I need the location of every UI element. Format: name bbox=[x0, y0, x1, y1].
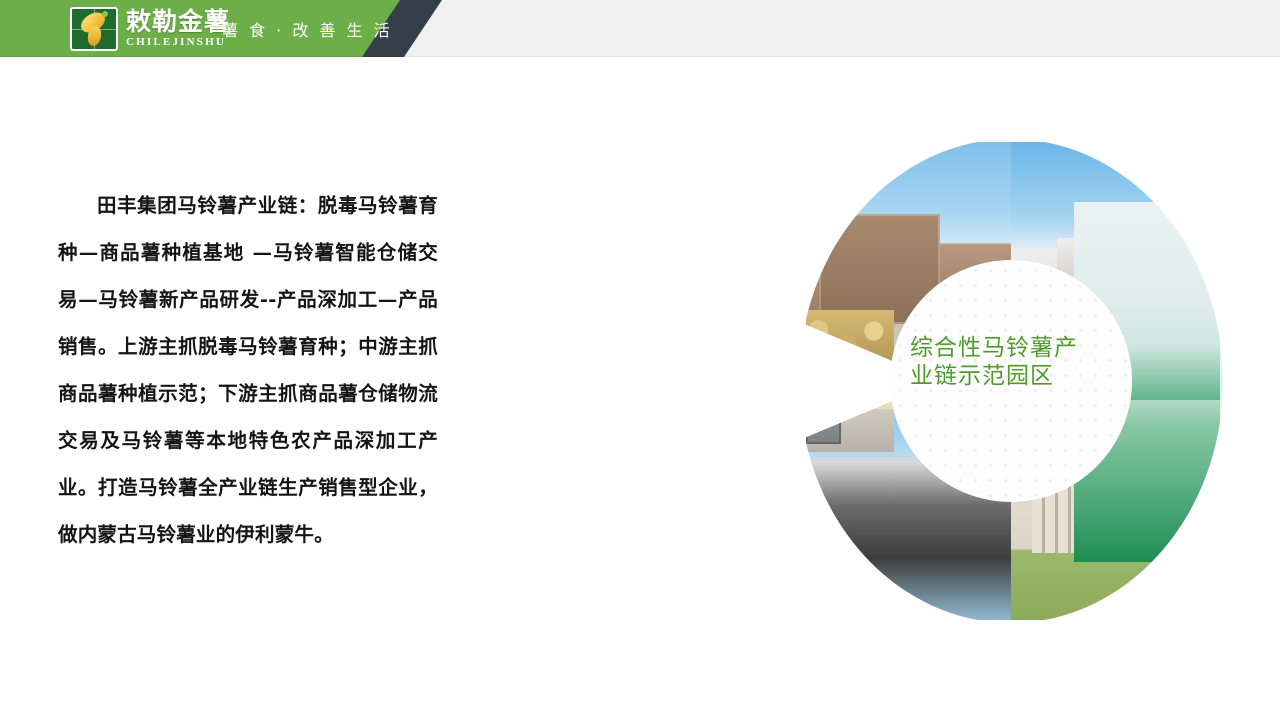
photo-cleanroom-workshop bbox=[1074, 202, 1220, 562]
ring-divider-horizontal-right bbox=[802, 624, 1011, 628]
collage-label-en: AIFENG FOOD bbox=[506, 395, 648, 416]
brand-name-en: CHILEJINSHU bbox=[126, 37, 230, 48]
photo-equipment bbox=[802, 380, 894, 452]
ring-segment-equipment bbox=[802, 380, 894, 452]
ring-segment-cleanroom-workshop bbox=[1074, 202, 1220, 562]
watermark-en: Industrial Distribution bbox=[225, 560, 453, 590]
ring-collage: 综合性马铃薯产业链示范园区 bbox=[802, 142, 1220, 620]
ring-center-label: 综合性马铃薯产业链示范园区 bbox=[910, 334, 1090, 390]
potato-logo-icon bbox=[70, 7, 118, 51]
ring-divider-horizontal-left bbox=[802, 620, 1011, 624]
header-tagline: 薯 食 · 改 善 生 活 bbox=[222, 17, 393, 41]
brand-name-cn: 敕勒金薯 bbox=[126, 9, 230, 34]
brand-lockup: 敕勒金薯 CHILEJINSHU bbox=[70, 6, 230, 51]
collage-label-cn: 马铃薯智能仓储库 bbox=[477, 348, 637, 374]
ring-segment-potato-harvest bbox=[802, 310, 894, 380]
body-paragraph: 田丰集团马铃薯产业链：脱毒马铃薯育种—商品薯种植基地 —马铃薯智能仓储交易—马铃… bbox=[58, 182, 438, 558]
slide-root: 敕勒金薯 CHILEJINSHU 薯 食 · 改 善 生 活 田丰集团马铃薯产业… bbox=[0, 0, 1280, 720]
photo-collage: 马铃薯智能仓储库 AIFENG FOOD bbox=[461, 168, 833, 592]
brand-text-block: 敕勒金薯 CHILEJINSHU bbox=[126, 9, 230, 48]
header-divider bbox=[0, 56, 1280, 57]
slide-header: 敕勒金薯 CHILEJINSHU 薯 食 · 改 善 生 活 bbox=[0, 0, 1280, 57]
logo-sprout-dot bbox=[102, 11, 108, 17]
collage-separator-horizontal bbox=[461, 376, 833, 381]
photo-potato-harvest bbox=[802, 310, 894, 380]
